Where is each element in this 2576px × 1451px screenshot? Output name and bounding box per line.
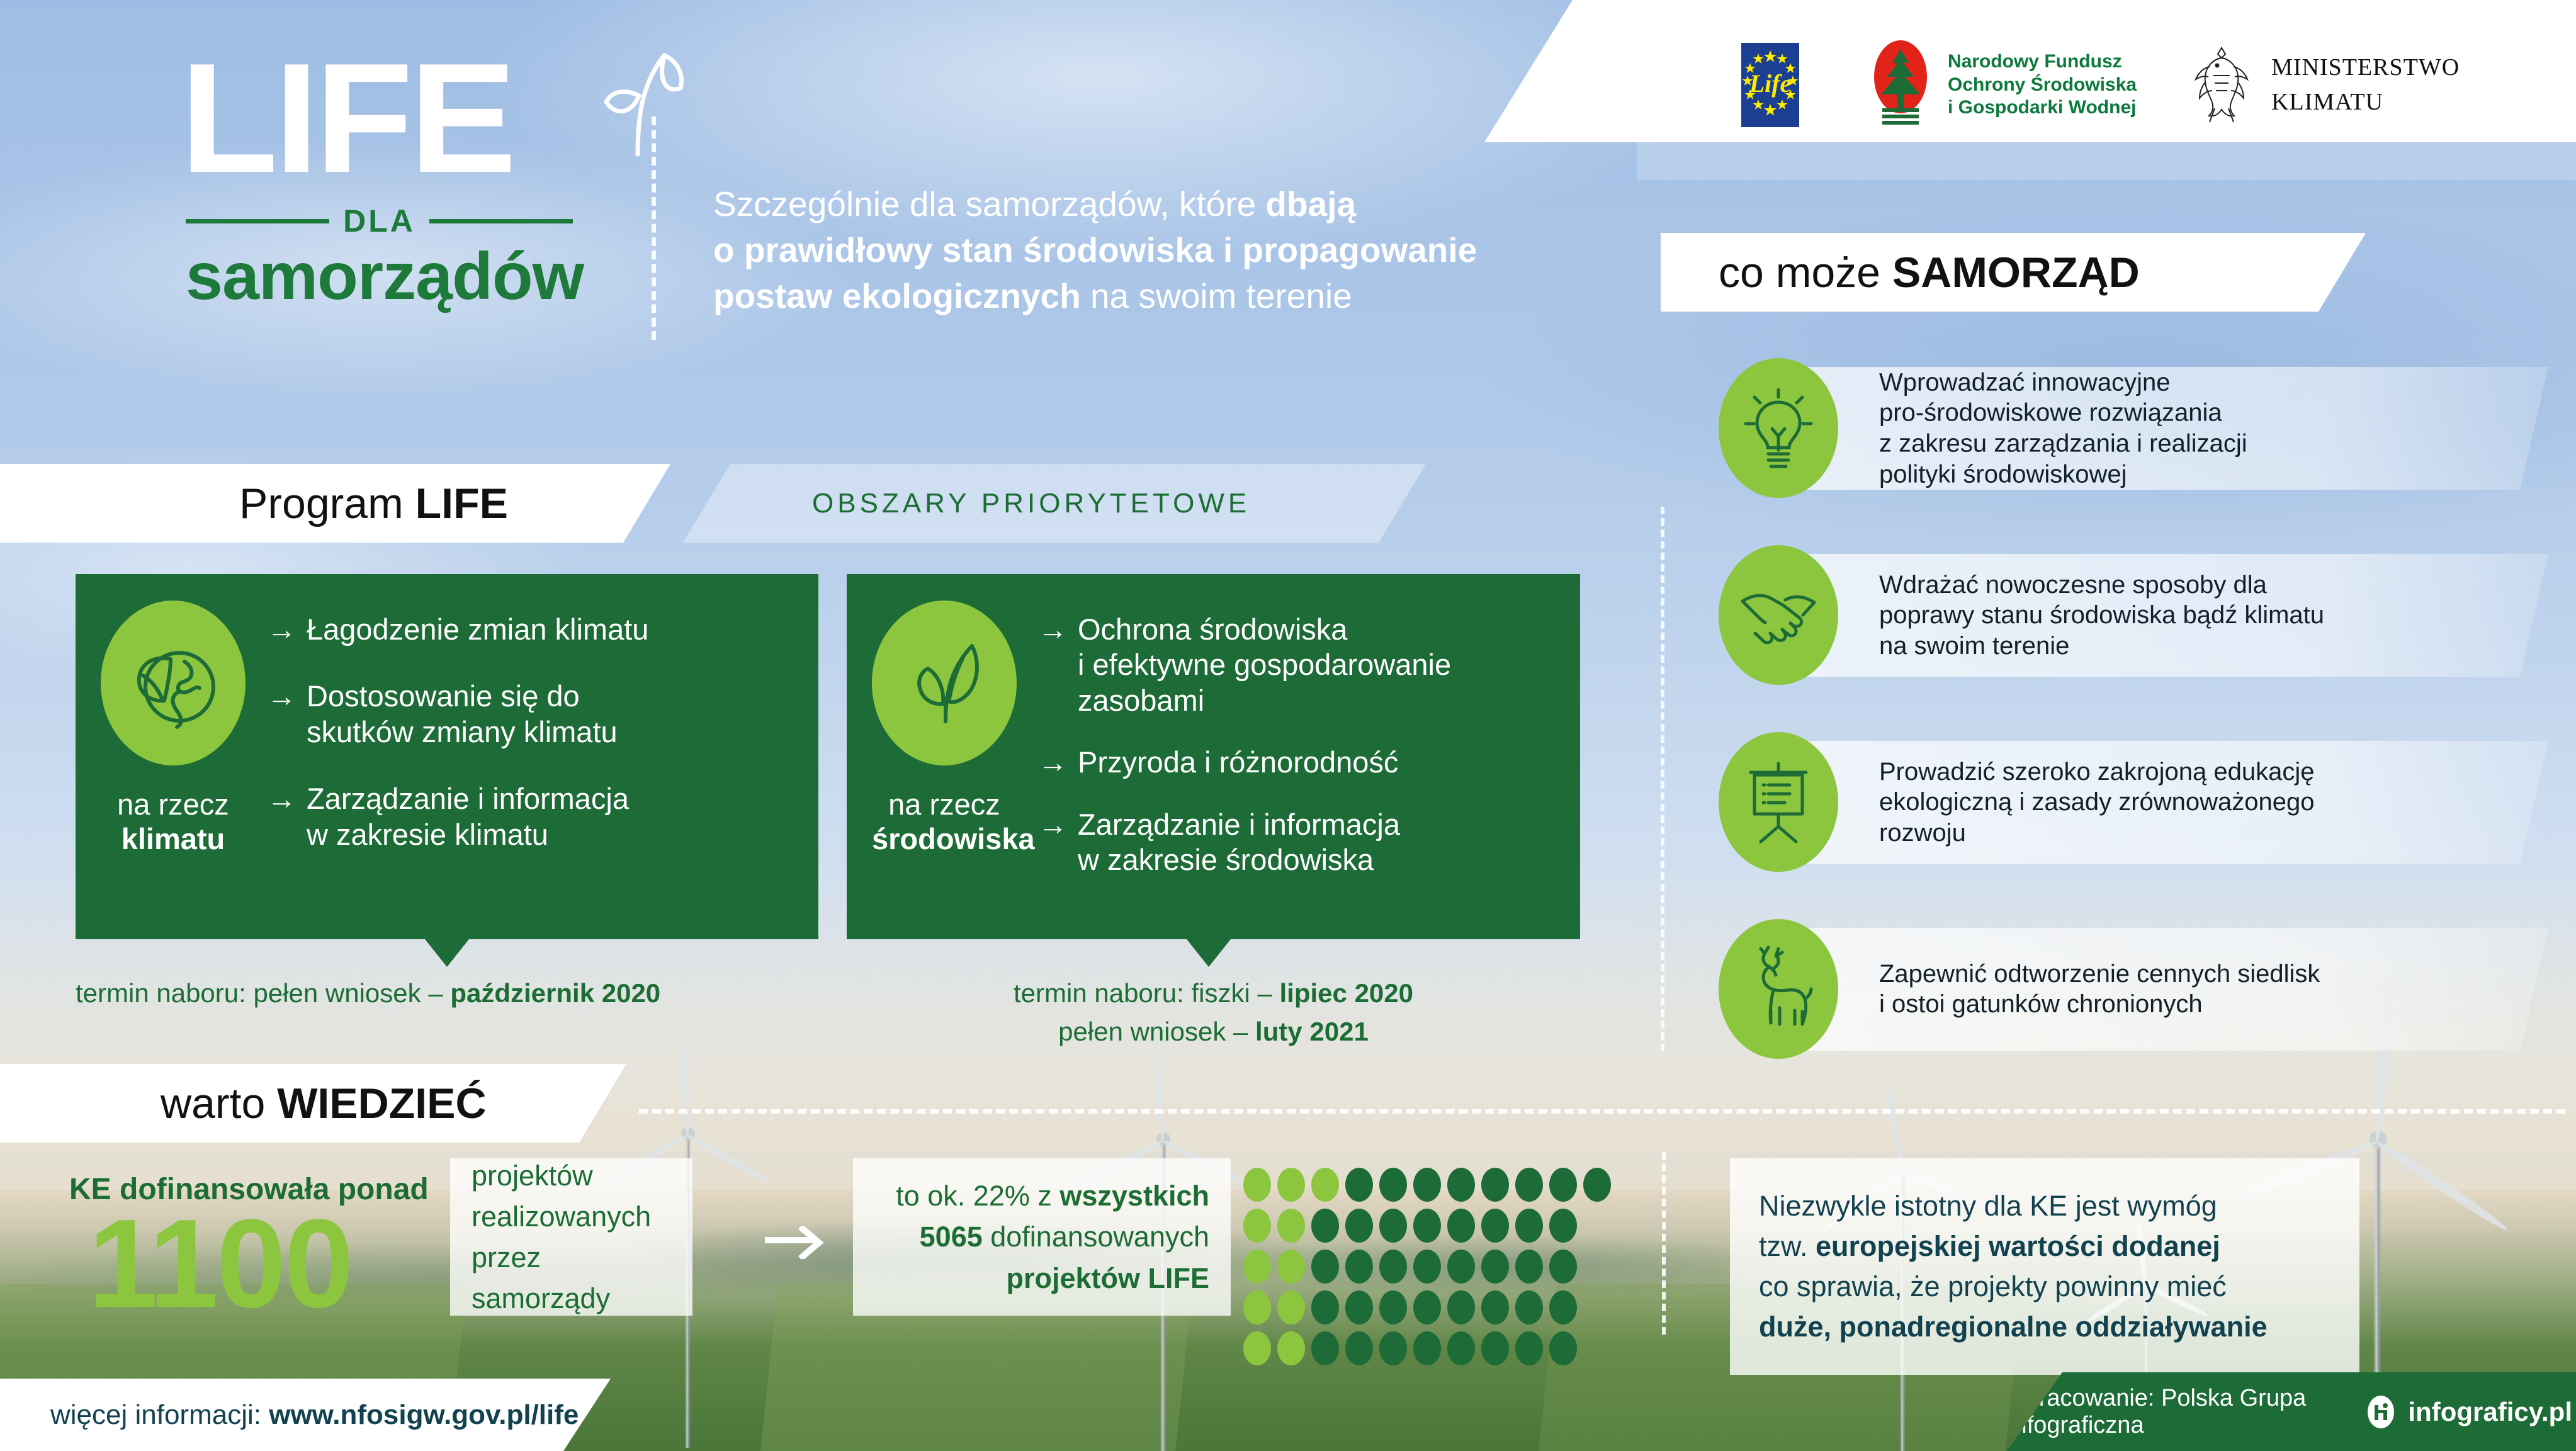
infograficy-logo-icon	[2363, 1394, 2399, 1430]
column-divider-dashes	[1661, 507, 1664, 1051]
lead-line-3: postaw ekologicznych na swoim terenie	[713, 273, 1525, 319]
pictogram-dot-highlighted	[1277, 1250, 1305, 1284]
pictogram-dot-base	[1481, 1331, 1509, 1365]
bottom-column-divider-dashes	[1662, 1152, 1666, 1335]
pictogram-dot-base	[1447, 1209, 1475, 1243]
pictogram-dot-base	[1515, 1331, 1543, 1365]
arrow-right-icon	[765, 1226, 834, 1262]
percentage-bold-1: wszystkich	[1059, 1180, 1209, 1212]
claim-line-4: duże, ponadregionalne oddziaływanie	[1759, 1307, 2330, 1347]
life-subtitle: samorządów	[186, 243, 573, 310]
pictogram-dot-base	[1311, 1290, 1339, 1324]
bullet-item: → Zarządzanie i informacja w zakresie kl…	[267, 781, 648, 852]
bullet-text: Przyroda i różnorodność	[1078, 745, 1398, 780]
pictogram-dot-base	[1413, 1331, 1441, 1365]
priority-box-environment-caption: na rzecz środowiska	[872, 787, 1017, 857]
priority-box-environment-left: na rzecz środowiska	[872, 601, 1017, 909]
pictogram-dot-base	[1311, 1209, 1339, 1243]
pictogram-dot-base	[1345, 1209, 1373, 1243]
bullet-text: Zarządzanie i informacja w zakresie środ…	[1078, 807, 1400, 878]
footer-credit-bar: Opracowanie: Polska Grupa Infograficzna …	[2007, 1372, 2576, 1451]
claim-line-2: tzw. europejskiej wartości dodanej	[1759, 1226, 2330, 1267]
polish-eagle-icon	[2187, 38, 2256, 132]
projects-description-text: projektów realizowanych przez samorządy	[472, 1155, 671, 1319]
pictogram-dot-base	[1345, 1290, 1373, 1324]
partner-logos: Life Narodowy Fundusz Ochrony Środowiska…	[1712, 38, 2460, 132]
arrow-right-icon: →	[1038, 745, 1068, 780]
deadline-prefix: termin naboru: pełen wniosek –	[76, 978, 450, 1008]
deadline-prefix: termin naboru: fiszki –	[1014, 978, 1280, 1008]
pictogram-dot-base	[1311, 1250, 1339, 1284]
pictogram-dot-base	[1413, 1209, 1441, 1243]
nfosigw-line-1: Narodowy Fundusz	[1948, 50, 2137, 74]
arrow-right-icon: →	[1038, 807, 1068, 878]
pictogram-dot-highlighted	[1243, 1331, 1271, 1365]
pictogram-dot-base	[1447, 1168, 1475, 1202]
banner-co-moze-samorzad: co może SAMORZĄD	[1661, 233, 2366, 312]
bullet-item: → Zarządzanie i informacja w zakresie śr…	[1038, 807, 1451, 878]
priority-box-climate-caption: na rzecz klimatu	[101, 787, 246, 857]
pictogram-dot-base	[1311, 1331, 1339, 1365]
life-logo-block: LIFE DLA samorządów	[186, 49, 573, 310]
deadline-environment: termin naboru: fiszki – lipiec 2020 pełe…	[847, 974, 1580, 1051]
banner-program-bold: LIFE	[415, 480, 508, 528]
pictogram-dot-base	[1549, 1250, 1577, 1284]
lead-line-3-normal: na swoim terenie	[1081, 276, 1352, 315]
pictogram-dot-highlighted	[1277, 1209, 1305, 1243]
life-divider: DLA	[186, 203, 573, 239]
nfosigw-label: Narodowy Fundusz Ochrony Środowiska i Go…	[1948, 50, 2137, 120]
pictogram-dot-base	[1549, 1209, 1577, 1243]
banner-priority-areas: OBSZARY PRIORYTETOWE	[683, 464, 1426, 543]
lightbulb-icon	[1719, 358, 1838, 498]
pictogram-dot-highlighted	[1277, 1331, 1305, 1365]
lead-line-2-bold: o prawidłowy stan środowiska i propagowa…	[713, 230, 1477, 269]
divider-word: DLA	[343, 203, 415, 239]
priority-box-climate-left: na rzecz klimatu	[101, 601, 246, 884]
pictogram-dot-base	[1413, 1250, 1441, 1284]
caption-line-1: na rzecz	[888, 788, 1000, 821]
pictogram-dot-base	[1549, 1331, 1577, 1365]
caption-line-2: klimatu	[101, 821, 246, 856]
card-habitats-text: Zapewnić odtworzenie cennych siedlisk i …	[1879, 959, 2465, 1020]
banner-wiedziec-bold: WIEDZIEĆ	[277, 1080, 486, 1127]
nfosigw-line-3: i Gospodarki Wodnej	[1948, 96, 2137, 120]
infograficy-brand[interactable]: infograficy.pl	[2363, 1394, 2572, 1430]
caption-line-2: środowiska	[872, 821, 1017, 856]
handshake-icon	[1719, 545, 1838, 685]
lead-line-1-normal: Szczególnie dla samorządów, które	[713, 184, 1265, 223]
sprout-icon	[589, 38, 696, 161]
deadline-environment-line-1: termin naboru: fiszki – lipiec 2020	[847, 974, 1580, 1013]
pictogram-dot-base	[1345, 1250, 1373, 1284]
priority-box-climate: na rzecz klimatu → Łagodzenie zmian klim…	[76, 574, 818, 939]
arrow-right-icon: →	[267, 679, 297, 750]
section-divider-dashes	[639, 1109, 2565, 1114]
pictogram-dot-base	[1549, 1290, 1577, 1324]
priority-box-environment-bullets: → Ochrona środowiska i efektywne gospoda…	[1038, 601, 1451, 909]
pictogram-dot-base	[1515, 1209, 1543, 1243]
footer-credit-text: Opracowanie: Polska Grupa Infograficzna	[2007, 1385, 2345, 1439]
pictogram-dot-highlighted	[1243, 1168, 1271, 1202]
ministry-label: MINISTERSTWO KLIMATU	[2271, 50, 2460, 120]
banner-warto-wiedziec: warto WIEDZIEĆ	[0, 1064, 626, 1143]
presentation-board-icon	[1719, 732, 1838, 872]
pictogram-dot-base	[1481, 1209, 1509, 1243]
banner-samorzad-bold: SAMORZĄD	[1892, 249, 2140, 296]
pictogram-dot-base	[1447, 1290, 1475, 1324]
pictogram-dot-base	[1447, 1250, 1475, 1284]
pictogram-dot-base	[1379, 1250, 1407, 1284]
pictogram-dot-base	[1549, 1168, 1577, 1202]
deadline-prefix-2: pełen wniosek –	[1058, 1017, 1255, 1046]
deer-icon	[1719, 919, 1838, 1059]
percentage-line-1: to ok. 22% z wszystkich	[896, 1175, 1209, 1216]
banner-wiedziec-text: warto WIEDZIEĆ	[161, 1079, 487, 1128]
european-added-value-claim: Niezwykle istotny dla KE jest wymóg tzw.…	[1730, 1158, 2359, 1375]
pictogram-dot-base	[1413, 1168, 1441, 1202]
claim-line-2-bold: europejskiej wartości dodanej	[1816, 1230, 2220, 1262]
lead-line-1: Szczególnie dla samorządów, które dbają	[713, 181, 1525, 227]
lead-line-3-bold: postaw ekologicznych	[713, 276, 1081, 315]
big-number-1100: 1100	[88, 1207, 351, 1321]
life-wordmark: LIFE	[180, 49, 579, 186]
claim-line-2-normal: tzw.	[1759, 1230, 1816, 1262]
percentage-line-2: 5065 dofinansowanych	[896, 1216, 1209, 1257]
pictogram-dot-base	[1345, 1331, 1373, 1365]
pictogram-dot-highlighted	[1277, 1168, 1305, 1202]
pictogram-dot-base	[1481, 1168, 1509, 1202]
svg-text:Life: Life	[1749, 69, 1792, 98]
percentage-suffix: dofinansowanych	[983, 1221, 1209, 1253]
top-right-blue-band	[1637, 142, 2576, 180]
card-innovation-text: Wprowadzać innowacyjne pro-środowiskowe …	[1879, 367, 2465, 490]
ministry-of-climate-logo: MINISTERSTWO KLIMATU	[2187, 38, 2460, 132]
bullet-item: → Dostosowanie się do skutków zmiany kli…	[267, 679, 648, 750]
infograficy-brand-text: infograficy.pl	[2408, 1397, 2572, 1427]
arrow-right-icon: →	[267, 612, 297, 647]
deadline-environment-line-2: pełen wniosek – luty 2021	[847, 1013, 1580, 1051]
priority-areas-label: OBSZARY PRIORYTETOWE	[812, 488, 1250, 519]
percentage-line-3: projektów LIFE	[896, 1258, 1209, 1299]
pictogram-dot-base	[1583, 1168, 1611, 1202]
ministry-line-1: MINISTERSTWO	[2271, 50, 2460, 85]
pictogram-dot-base	[1345, 1168, 1373, 1202]
claim-line-3: co sprawia, że projekty powinny mieć	[1759, 1267, 2330, 1307]
pictogram-dot-base	[1379, 1331, 1407, 1365]
pictogram-dot-base	[1515, 1250, 1543, 1284]
divider-line-left	[186, 219, 329, 223]
card-education-text: Prowadzić szeroko zakrojoną edukację eko…	[1879, 756, 2465, 848]
claim-line-4-bold: duże, ponadregionalne oddziaływanie	[1759, 1311, 2268, 1343]
banner-samorzad-normal: co może	[1719, 249, 1892, 296]
globe-leaf-icon	[101, 601, 246, 765]
footer-more-info-text: więcej informacji: www.nfosigw.gov.pl/li…	[50, 1399, 579, 1431]
banner-program-life: Program LIFE	[0, 464, 670, 543]
pictogram-dot-highlighted	[1243, 1290, 1271, 1324]
banner-program-text: Program LIFE	[239, 479, 508, 528]
deadline-value: lipiec 2020	[1280, 978, 1413, 1008]
arrow-right-icon: →	[267, 781, 297, 852]
banner-wiedziec-normal: warto	[161, 1080, 277, 1127]
pictogram-dot-base	[1481, 1290, 1509, 1324]
priority-box-environment: na rzecz środowiska → Ochrona środowiska…	[847, 574, 1580, 939]
pictogram-dot-highlighted	[1311, 1168, 1339, 1202]
claim-line-1: Niezwykle istotny dla KE jest wymóg	[1759, 1186, 2330, 1226]
eu-life-logo: Life	[1712, 38, 1828, 132]
banner-program-normal: Program	[239, 480, 415, 528]
footer-prefix: więcej informacji:	[50, 1399, 269, 1430]
nfosigw-line-2: Ochrony Środowiska	[1948, 74, 2137, 97]
nfosigw-tree-icon	[1866, 38, 1935, 132]
two-leaves-icon	[872, 601, 1017, 765]
deadline-value-2: luty 2021	[1255, 1017, 1369, 1046]
percentage-bold-2: projektów LIFE	[1006, 1262, 1209, 1294]
bullet-item: → Ochrona środowiska i efektywne gospoda…	[1038, 612, 1451, 718]
caption-line-1: na rzecz	[117, 788, 229, 821]
pictogram-dot-base	[1481, 1250, 1509, 1284]
bullet-item: → Łagodzenie zmian klimatu	[267, 612, 648, 647]
pictogram-dot-base	[1379, 1209, 1407, 1243]
pictogram-dot-highlighted	[1277, 1290, 1305, 1324]
footer-more-info[interactable]: więcej informacji: www.nfosigw.gov.pl/li…	[0, 1379, 611, 1451]
pictogram-dot-base	[1379, 1168, 1407, 1202]
footer-url[interactable]: www.nfosigw.gov.pl/life	[269, 1399, 579, 1430]
divider-line-right	[429, 219, 573, 223]
priority-box-climate-bullets: → Łagodzenie zmian klimatu → Dostosowani…	[267, 601, 648, 884]
bullet-text: Łagodzenie zmian klimatu	[307, 612, 648, 647]
nfosigw-logo: Narodowy Fundusz Ochrony Środowiska i Go…	[1866, 38, 2137, 132]
banner-samorzad-text: co może SAMORZĄD	[1719, 248, 2140, 297]
percentage-box: to ok. 22% z wszystkich 5065 dofinansowa…	[853, 1158, 1231, 1316]
pictogram-dot-base	[1413, 1290, 1441, 1324]
bullet-text: Zarządzanie i informacja w zakresie klim…	[307, 781, 629, 852]
lead-line-2: o prawidłowy stan środowiska i propagowa…	[713, 227, 1525, 273]
deadline-value: październik 2020	[450, 978, 660, 1008]
projects-description-box: projektów realizowanych przez samorządy	[450, 1158, 692, 1316]
percentage-text: to ok. 22% z wszystkich 5065 dofinansowa…	[896, 1175, 1209, 1299]
pictogram-dot-base	[1515, 1290, 1543, 1324]
card-modern-methods-text: Wdrażać nowoczesne sposoby dla poprawy s…	[1879, 569, 2465, 661]
percentage-total: 5065	[920, 1221, 983, 1253]
ministry-line-2: KLIMATU	[2271, 85, 2460, 120]
pictogram-dot-highlighted	[1243, 1209, 1271, 1243]
bullet-text: Dostosowanie się do skutków zmiany klima…	[307, 679, 618, 750]
percentage-prefix: to ok. 22% z	[896, 1180, 1059, 1212]
lead-line-1-bold: dbają	[1265, 184, 1356, 223]
lead-paragraph: Szczególnie dla samorządów, które dbają …	[713, 181, 1525, 319]
arrow-right-icon: →	[1038, 612, 1068, 718]
pictogram-dot-grid	[1243, 1168, 1621, 1338]
pictogram-dot-base	[1379, 1290, 1407, 1324]
bullet-item: → Przyroda i różnorodność	[1038, 745, 1451, 780]
pictogram-dot-base	[1447, 1331, 1475, 1365]
pictogram-dot-highlighted	[1243, 1250, 1271, 1284]
bullet-text: Ochrona środowiska i efektywne gospodaro…	[1078, 612, 1451, 718]
pictogram-dot-base	[1515, 1168, 1543, 1202]
deadline-climate: termin naboru: pełen wniosek – październ…	[76, 974, 818, 1013]
